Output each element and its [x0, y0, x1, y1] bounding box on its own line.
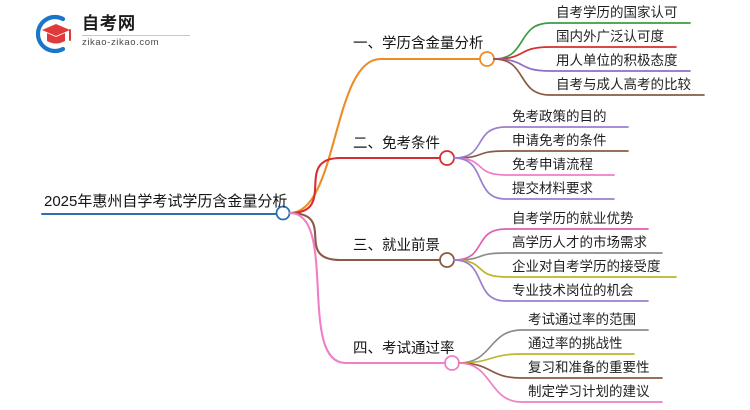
branch-line-2 — [290, 158, 441, 213]
leaf-label-4-1[interactable]: 考试通过率的范围 — [528, 313, 636, 327]
leaf-label-1-2[interactable]: 国内外广泛认可度 — [556, 30, 664, 44]
branch-label-4[interactable]: 四、考试通过率 — [353, 342, 455, 357]
leaf-label-4-4[interactable]: 制定学习计划的建议 — [528, 385, 650, 399]
mindmap-canvas: 自考网 zikao-zikao.com 2025年惠州自学考试学历含金量分析一、… — [0, 0, 750, 410]
leaf-label-1-1[interactable]: 自考学历的国家认可 — [556, 6, 678, 20]
root-label[interactable]: 2025年惠州自学考试学历含金量分析 — [44, 194, 287, 209]
leaf-label-2-2[interactable]: 申请免考的条件 — [512, 134, 607, 148]
leaf-label-2-1[interactable]: 免考政策的目的 — [512, 110, 607, 124]
leaf-label-3-4[interactable]: 专业技术岗位的机会 — [512, 284, 634, 298]
leaf-label-3-2[interactable]: 高学历人才的市场需求 — [512, 236, 647, 250]
branch-node-3[interactable] — [440, 253, 454, 267]
leaf-label-3-1[interactable]: 自考学历的就业优势 — [512, 212, 634, 226]
leaf-label-3-3[interactable]: 企业对自考学历的接受度 — [512, 260, 661, 274]
leaf-label-4-3[interactable]: 复习和准备的重要性 — [528, 361, 650, 375]
branch-label-2[interactable]: 二、免考条件 — [353, 137, 440, 152]
leaf-label-2-3[interactable]: 免考申请流程 — [512, 158, 593, 172]
branch-node-4[interactable] — [445, 356, 459, 370]
leaf-label-1-3[interactable]: 用人单位的积极态度 — [556, 54, 678, 68]
branch-label-1[interactable]: 一、学历含金量分析 — [353, 37, 484, 52]
leaf-label-2-4[interactable]: 提交材料要求 — [512, 182, 593, 196]
branch-node-1[interactable] — [480, 52, 494, 66]
branch-node-2[interactable] — [440, 151, 454, 165]
branch-label-3[interactable]: 三、就业前景 — [353, 239, 440, 254]
leaf-label-1-4[interactable]: 自考与成人高考的比较 — [556, 78, 691, 92]
leaf-label-4-2[interactable]: 通过率的挑战性 — [528, 337, 623, 351]
